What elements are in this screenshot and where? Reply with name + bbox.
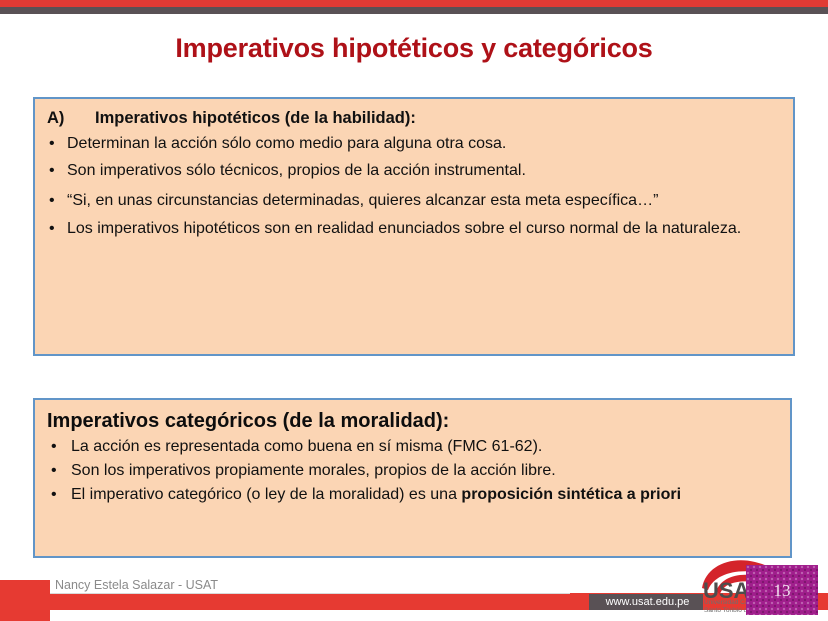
box-a-bullet-list: Determinan la acción sólo como medio par…	[45, 133, 779, 242]
box-b-bullet-list: La acción es representada como buena en …	[45, 435, 776, 507]
footer-divider-rule	[50, 593, 570, 594]
box-a-heading-row: A) Imperativos hipotéticos (de la habili…	[47, 108, 779, 129]
top-accent-bar-red	[0, 0, 828, 7]
content-box-categorical-imperatives: Imperativos categóricos (de la moralidad…	[33, 398, 792, 558]
footer-url-badge[interactable]: www.usat.edu.pe	[551, 594, 703, 610]
box-a-bullet-3: “Si, en unas circunstancias determinadas…	[45, 188, 779, 214]
box-b-bullet-3-prefix: El imperativo categórico (o ley de la mo…	[71, 486, 461, 503]
box-a-list-marker: A)	[47, 108, 95, 129]
box-b-bullet-1: La acción es representada como buena en …	[45, 435, 776, 458]
page-number: 13	[746, 582, 818, 599]
box-b-heading-text: Imperativos categóricos (de la moralidad…	[47, 409, 776, 433]
box-a-bullet-2: Son imperativos sólo técnicos, propios d…	[45, 160, 779, 183]
footer-red-block	[0, 580, 50, 621]
box-a-heading-text: Imperativos hipotéticos (de la habilidad…	[95, 108, 416, 129]
footer-author-text: Nancy Estela Salazar - USAT	[55, 578, 218, 592]
box-b-bullet-2: Son los imperativos propiamente morales,…	[45, 459, 776, 482]
top-accent-bar-gray	[0, 7, 828, 14]
page-number-patch: 13	[746, 565, 818, 615]
box-b-inner: Imperativos categóricos (de la moralidad…	[35, 400, 790, 507]
box-a-inner: A) Imperativos hipotéticos (de la habili…	[35, 99, 793, 242]
footer-url-text: www.usat.edu.pe	[592, 594, 703, 610]
slide-title: Imperativos hipotéticos y categóricos	[0, 34, 828, 64]
box-b-bullet-3-emphasis: proposición sintética a priori	[461, 486, 681, 503]
box-a-bullet-4: Los imperativos hipotéticos son en reali…	[45, 216, 779, 242]
box-b-bullet-3: El imperativo categórico (o ley de la mo…	[45, 483, 776, 506]
footer-url-badge-accent	[551, 594, 589, 610]
content-box-hypothetical-imperatives: A) Imperativos hipotéticos (de la habili…	[33, 97, 795, 356]
box-a-bullet-1: Determinan la acción sólo como medio par…	[45, 133, 779, 156]
slide-canvas: Imperativos hipotéticos y categóricos A)…	[0, 0, 828, 621]
